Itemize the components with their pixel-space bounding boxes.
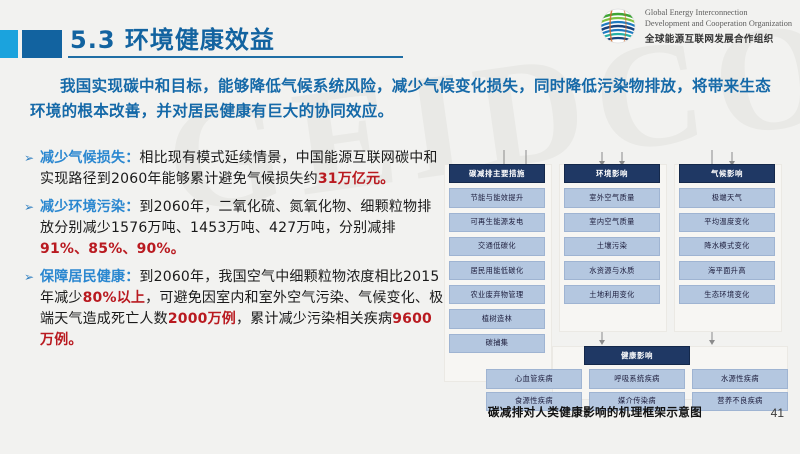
diagram-node: 生态环境变化	[679, 285, 775, 304]
bullet-item: ➢保障居民健康：到2060年，我国空气中细颗粒物浓度相比2015年减少80%以上…	[24, 267, 444, 351]
logo-text-cn: 全球能源互联网发展合作组织	[645, 31, 792, 45]
diagram-node: 水资源与水质	[564, 261, 660, 280]
health-node: 呼吸系统疾病	[589, 369, 685, 388]
diagram-column: 碳减排主要措施节能与能效提升可再生能源发电交通低碳化居民用能低碳化农业废弃物管理…	[449, 164, 545, 353]
diagram-node: 海平面升高	[679, 261, 775, 280]
page-number: 41	[771, 406, 784, 420]
diagram-column-header: 碳减排主要措施	[449, 164, 545, 183]
diagram-column-header: 环境影响	[564, 164, 660, 183]
diagram-column: 环境影响室外空气质量室内空气质量土壤污染水资源与水质土地利用变化	[564, 164, 660, 304]
health-node: 心血管疾病	[486, 369, 582, 388]
bullet-arrow-icon: ➢	[24, 148, 40, 169]
bullet-keyword: 保障居民健康	[40, 269, 125, 285]
bullet-arrow-icon: ➢	[24, 267, 40, 288]
bullet-separator: ：	[125, 269, 139, 285]
diagram-node: 节能与能效提升	[449, 188, 545, 207]
diagram-caption: 碳减排对人类健康影响的机理框架示意图	[470, 404, 720, 420]
health-impact-group: 健康影响 心血管疾病食源性疾病呼吸系统疾病媒介传染病水源性疾病营养不良疾病	[482, 346, 792, 411]
diagram-node: 极端天气	[679, 188, 775, 207]
bullet-highlight: 91%、85%、90%。	[40, 241, 185, 257]
globe-logo-icon	[598, 6, 638, 46]
title-underline	[68, 56, 403, 58]
diagram-column: 气候影响极端天气平均温度变化降水模式变化海平面升高生态环境变化	[679, 164, 775, 304]
bullet-segment: ，累计减少污染相关疾病	[236, 311, 392, 327]
bullet-arrow-icon: ➢	[24, 197, 40, 218]
bullet-highlight: 31万亿元。	[318, 171, 395, 187]
diagram-node: 植树造林	[449, 309, 545, 328]
bullet-highlight: 80%以上	[83, 290, 146, 306]
title-accent-chip-cyan	[0, 30, 18, 58]
bullet-separator: ：	[125, 150, 139, 166]
logo-text-en-line1: Global Energy Interconnection	[645, 7, 792, 18]
logo-text-en-line2: Development and Cooperation Organization	[645, 18, 792, 29]
bullet-text: 保障居民健康：到2060年，我国空气中细颗粒物浓度相比2015年减少80%以上，…	[40, 267, 444, 351]
diagram-node: 可再生能源发电	[449, 213, 545, 232]
bullet-separator: ：	[125, 199, 139, 215]
lead-paragraph: 我国实现碳中和目标，能够降低气候系统风险，减少气候变化损失，同时降低污染物排放，…	[30, 74, 778, 124]
diagram-node: 室内空气质量	[564, 213, 660, 232]
bullet-keyword: 减少环境污染	[40, 199, 125, 215]
diagram-node: 居民用能低碳化	[449, 261, 545, 280]
diagram-node: 室外空气质量	[564, 188, 660, 207]
bullet-highlight: 2000万例	[168, 311, 236, 327]
framework-diagram: 碳减排主要措施节能与能效提升可再生能源发电交通低碳化居民用能低碳化农业废弃物管理…	[444, 150, 792, 398]
diagram-column-header: 气候影响	[679, 164, 775, 183]
bullet-list: ➢减少气候损失：相比现有模式延续情景，中国能源互联网碳中和实现路径到2060年能…	[24, 148, 444, 358]
page-title: 5.3 环境健康效益	[70, 20, 275, 55]
bullet-item: ➢减少环境污染：到2060年，二氧化硫、氮氧化物、细颗粒物排放分别减少1576万…	[24, 197, 444, 260]
diagram-node: 平均温度变化	[679, 213, 775, 232]
health-node: 水源性疾病	[692, 369, 788, 388]
bullet-text: 减少环境污染：到2060年，二氧化硫、氮氧化物、细颗粒物排放分别减少1576万吨…	[40, 197, 444, 260]
diagram-node: 土壤污染	[564, 237, 660, 256]
title-accent-chip-blue	[22, 30, 62, 58]
organization-logo: Global Energy Interconnection Developmen…	[598, 6, 792, 46]
bullet-keyword: 减少气候损失	[40, 150, 125, 166]
diagram-node: 交通低碳化	[449, 237, 545, 256]
diagram-node: 降水模式变化	[679, 237, 775, 256]
bullet-text: 减少气候损失：相比现有模式延续情景，中国能源互联网碳中和实现路径到2060年能够…	[40, 148, 444, 190]
diagram-node: 农业废弃物管理	[449, 285, 545, 304]
diagram-node: 土地利用变化	[564, 285, 660, 304]
health-impact-header: 健康影响	[584, 346, 690, 365]
bullet-item: ➢减少气候损失：相比现有模式延续情景，中国能源互联网碳中和实现路径到2060年能…	[24, 148, 444, 190]
